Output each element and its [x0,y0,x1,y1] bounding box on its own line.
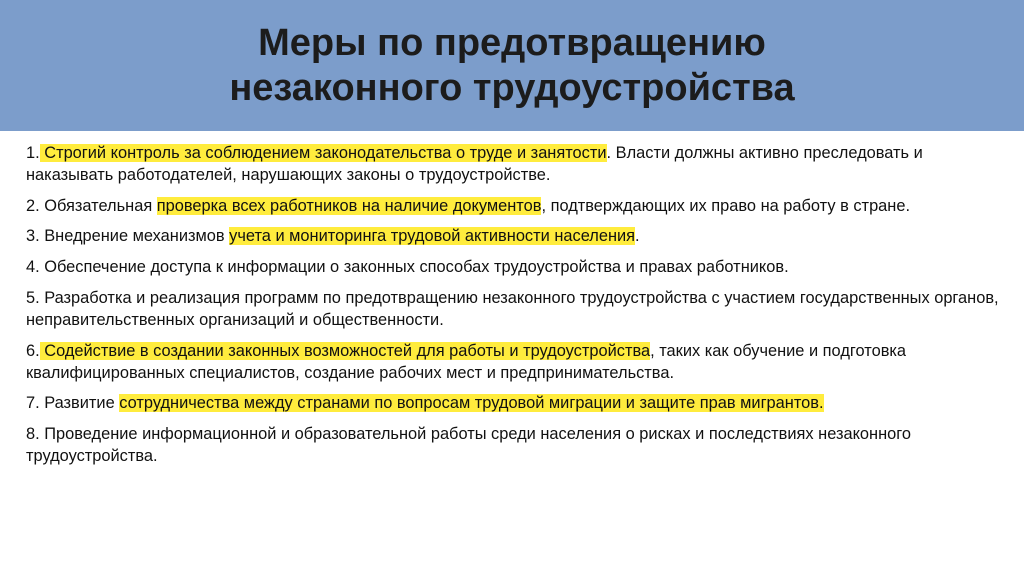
highlighted-text: сотрудничества между странами по вопроса… [119,394,823,412]
highlighted-text: Содействие в создании законных возможнос… [40,342,650,360]
page-title: Меры по предотвращению незаконного трудо… [32,21,992,109]
list-item: 7. Развитие сотрудничества между странам… [26,393,1000,415]
list-item: 1. Строгий контроль за соблюдением закон… [26,143,1000,187]
list-item: 3. Внедрение механизмов учета и монитори… [26,226,1000,248]
list-item-number: 5. [26,289,40,307]
list-item-text: Проведение информационной и образователь… [26,425,911,465]
list-item: 6. Содействие в создании законных возмож… [26,341,1000,385]
list-item: 2. Обязательная проверка всех работников… [26,196,1000,218]
list-item-number: 1. [26,144,40,162]
list-item: 5. Разработка и реализация программ по п… [26,288,1000,332]
numbered-list: 1. Строгий контроль за соблюдением закон… [26,143,1000,468]
list-item-number: 6. [26,342,40,360]
highlighted-text: учета и мониторинга трудовой активности … [229,227,635,245]
list-item: 4. Обеспечение доступа к информации о за… [26,257,1000,279]
list-item-text: Разработка и реализация программ по пред… [26,289,999,329]
slide-body: 1. Строгий контроль за соблюдением закон… [0,131,1024,576]
highlighted-text: проверка всех работников на наличие доку… [157,197,542,215]
list-item-number: 3. [26,227,40,245]
title-band: Меры по предотвращению незаконного трудо… [0,0,1024,131]
list-item-text: Развитие [40,394,120,412]
list-item: 8. Проведение информационной и образоват… [26,424,1000,468]
slide: Меры по предотвращению незаконного трудо… [0,0,1024,576]
list-item-number: 8. [26,425,40,443]
highlighted-text: Строгий контроль за соблюдением законода… [40,144,607,162]
list-item-text: Обязательная [40,197,157,215]
list-item-text: , подтверждающих их право на работу в ст… [541,197,910,215]
list-item-number: 2. [26,197,40,215]
list-item-number: 7. [26,394,40,412]
list-item-text: . [635,227,640,245]
list-item-number: 4. [26,258,40,276]
list-item-text: Обеспечение доступа к информации о закон… [40,258,789,276]
list-item-text: Внедрение механизмов [40,227,229,245]
